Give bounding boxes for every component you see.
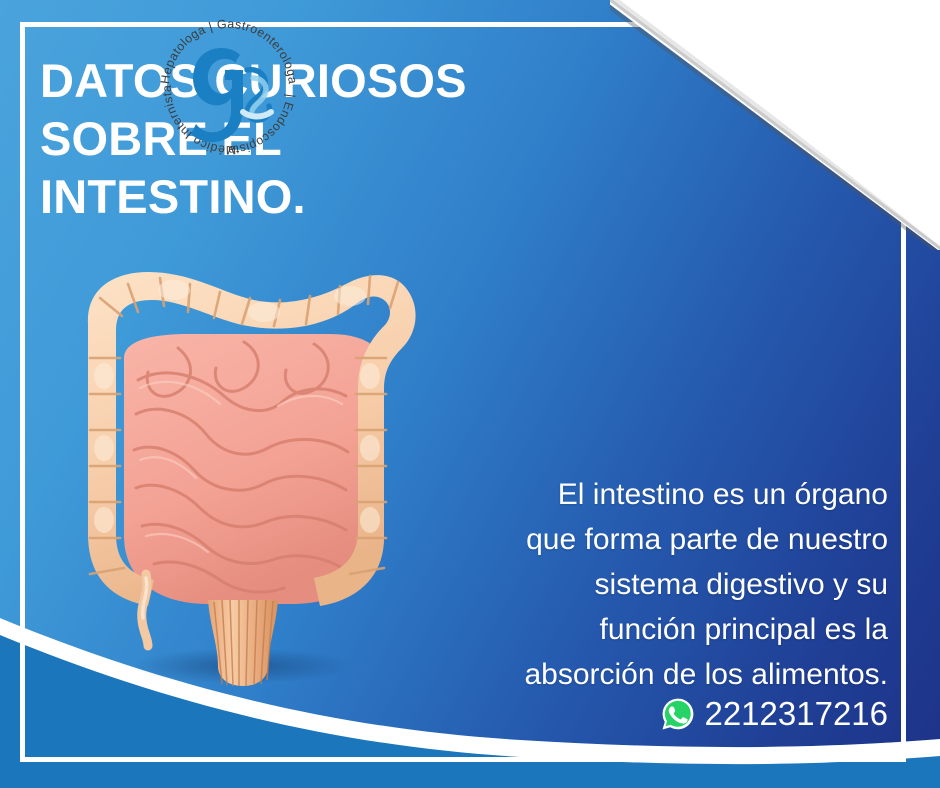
logo-monogram-g [191, 48, 243, 142]
whatsapp-icon[interactable] [661, 697, 695, 731]
body-line-2: que forma parte de nuestro [468, 517, 888, 562]
brand-logo: Hepatologa | Gastroenterologa | Endoscop… [155, 14, 303, 162]
page-title: DATOS CURIOSOS SOBRE EL INTESTINO. [40, 52, 600, 226]
logo-stomach-swirl [243, 70, 271, 120]
body-line-3: sistema digestivo y su [468, 562, 888, 607]
body-line-1: El intestino es un órgano [468, 472, 888, 517]
body-line-4: función principal es la [468, 607, 888, 652]
whatsapp-contact[interactable]: 2212317216 [661, 695, 888, 733]
small-intestine [124, 334, 384, 604]
whatsapp-phone-number[interactable]: 2212317216 [704, 695, 888, 733]
title-line-3: INTESTINO. [40, 168, 600, 226]
body-line-5: absorción de los alimentos. [468, 652, 888, 697]
folded-corner-decoration [610, 0, 940, 250]
title-line-2: SOBRE EL [40, 110, 600, 168]
title-line-1: DATOS CURIOSOS [40, 52, 600, 110]
appendix [142, 574, 148, 646]
human-intestine-illustration [28, 238, 458, 700]
poster-canvas: Hepatologa | Gastroenterologa | Endoscop… [0, 0, 940, 788]
body-paragraph: El intestino es un órgano que forma part… [468, 472, 888, 697]
